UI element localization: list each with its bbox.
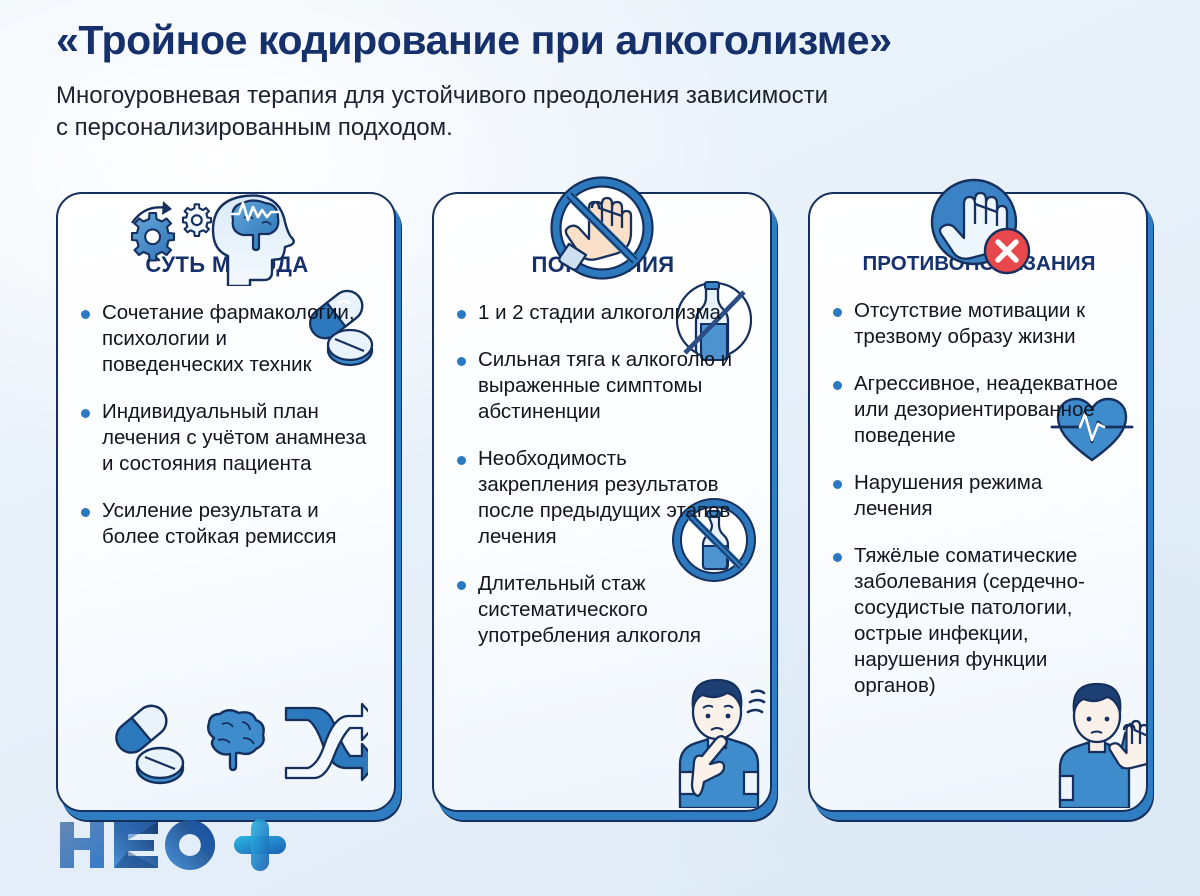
subtitle-line-2: с персонализированным подходом. bbox=[56, 112, 1116, 144]
infographic-poster: «Тройное кодирование при алкоголизме» Мн… bbox=[0, 0, 1200, 896]
capsule-icon bbox=[110, 700, 183, 783]
card-pokazaniya[interactable]: ПОКАЗАНИЯ bbox=[432, 192, 772, 812]
brain-icon bbox=[208, 710, 264, 770]
card-2-inner: ПОКАЗАНИЯ bbox=[434, 194, 770, 810]
subtitle-line-1: Многоуровневая терапия для устойчивого п… bbox=[56, 80, 1116, 112]
poster-header: «Тройное кодирование при алкоголизме» Мн… bbox=[56, 18, 1156, 145]
list-item: Тяжёлые соматические заболевания (сердеч… bbox=[832, 543, 1126, 699]
neo-plus-logo[interactable] bbox=[56, 816, 288, 878]
list-item: Агрессивное, неадекватное или дезориенти… bbox=[832, 371, 1126, 449]
card-3-inner: ПРОТИВОПОКАЗАНИЯ Отсутствие мотивации к … bbox=[810, 194, 1146, 810]
list-item: Нарушения режима лечения bbox=[832, 470, 1126, 522]
bullet-list-pokazaniya: 1 и 2 стадии алкоголизма Сильная тяга к … bbox=[456, 300, 750, 649]
list-item: Сильная тяга к алкоголю и выраженные сим… bbox=[456, 347, 750, 425]
shuffle-arrows-icon bbox=[286, 704, 368, 780]
list-item: Длительный стаж систематического употреб… bbox=[456, 571, 750, 649]
gears-brain-head-icon bbox=[119, 190, 319, 286]
bullet-list-sut-metoda: Сочетание фармакологии, психологии и пов… bbox=[80, 300, 374, 550]
list-item: Усиление результата и более стойкая реми… bbox=[80, 498, 374, 550]
worried-man-icon bbox=[658, 668, 770, 808]
list-item: Индивидуальный план лечения с учётом ана… bbox=[80, 399, 374, 477]
cards-row: СУТЬ МЕТОДА Сочетание фармакологии, псих… bbox=[56, 192, 1148, 812]
card-1-inner: СУТЬ МЕТОДА Сочетание фармакологии, псих… bbox=[58, 194, 394, 810]
bullet-list-protivopokazaniya: Отсутствие мотивации к трезвому образу ж… bbox=[832, 298, 1126, 699]
card-sut-metoda[interactable]: СУТЬ МЕТОДА Сочетание фармакологии, псих… bbox=[56, 192, 396, 812]
list-item: Сочетание фармакологии, психологии и пов… bbox=[80, 300, 374, 378]
stop-hand-prohibited-icon bbox=[548, 174, 656, 282]
list-item: Отсутствие мотивации к трезвому образу ж… bbox=[832, 298, 1126, 350]
page-title: «Тройное кодирование при алкоголизме» bbox=[56, 18, 1156, 64]
capsule-brain-shuffle-icons bbox=[98, 686, 368, 794]
page-subtitle: Многоуровневая терапия для устойчивого п… bbox=[56, 80, 1116, 145]
card-protivopokazaniya[interactable]: ПРОТИВОПОКАЗАНИЯ Отсутствие мотивации к … bbox=[808, 192, 1148, 812]
stop-hand-with-red-x-icon bbox=[924, 174, 1032, 282]
list-item: Необходимость закрепления результатов по… bbox=[456, 446, 750, 550]
list-item: 1 и 2 стадии алкоголизма bbox=[456, 300, 750, 326]
